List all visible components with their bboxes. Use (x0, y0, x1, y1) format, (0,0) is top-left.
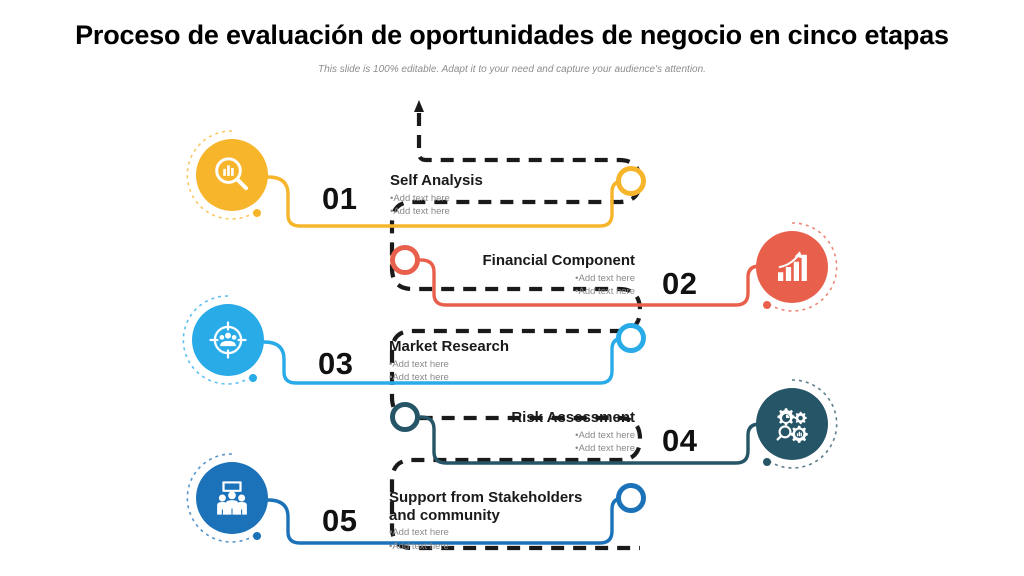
step-icon-circle-2[interactable] (756, 231, 828, 303)
team-presentation-icon (211, 477, 253, 519)
bullet-item: •Add text here (389, 526, 582, 539)
bullet-item: •Add text here (335, 442, 635, 455)
step-number-1: 01 (322, 183, 357, 214)
step-number-4: 04 (662, 425, 697, 456)
step-icon-circle-3[interactable] (192, 304, 264, 376)
step-text-4: Risk Assessment •Add text here •Add text… (335, 409, 635, 456)
step-number-2: 02 (662, 268, 697, 299)
slide-canvas: Proceso de evaluación de oportunidades d… (0, 0, 1024, 576)
step-title-4: Risk Assessment (335, 409, 635, 427)
step-text-5: Support from Stakeholders and community … (389, 489, 582, 553)
bullet-item: •Add text here (335, 285, 635, 298)
step-icon-circle-4[interactable] (756, 388, 828, 460)
bullet-item: •Add text here (389, 371, 509, 384)
bullet-item: •Add text here (390, 192, 483, 205)
step-title-3: Market Research (389, 338, 509, 356)
magnifier-chart-icon (211, 154, 253, 196)
step-title-5: Support from Stakeholders (389, 489, 582, 507)
step-title-2: Financial Component (335, 252, 635, 270)
gears-analysis-icon (771, 403, 813, 445)
step-text-2: Financial Component •Add text here •Add … (335, 252, 635, 299)
step-text-3: Market Research •Add text here •Add text… (389, 338, 509, 385)
growth-bar-chart-icon (771, 246, 813, 288)
step-icon-circle-5[interactable] (196, 462, 268, 534)
bullet-item: •Add text here (335, 272, 635, 285)
step-number-5: 05 (322, 505, 357, 536)
bullet-item: •Add text here (389, 540, 582, 553)
step-bullets-2: •Add text here •Add text here (335, 272, 635, 299)
step-text-1: Self Analysis •Add text here •Add text h… (390, 172, 483, 219)
step-title-5-line2: and community (389, 507, 582, 525)
target-audience-icon (207, 319, 249, 361)
bullet-item: •Add text here (389, 358, 509, 371)
step-bullets-4: •Add text here •Add text here (335, 429, 635, 456)
step-bullets-3: •Add text here •Add text here (389, 358, 509, 385)
step-bullets-5: •Add text here •Add text here (389, 526, 582, 553)
step-icon-circle-1[interactable] (196, 139, 268, 211)
bullet-item: •Add text here (335, 429, 635, 442)
step-number-3: 03 (318, 348, 353, 379)
step-title-1: Self Analysis (390, 172, 483, 190)
step-bullets-1: •Add text here •Add text here (390, 192, 483, 219)
bullet-item: •Add text here (390, 205, 483, 218)
